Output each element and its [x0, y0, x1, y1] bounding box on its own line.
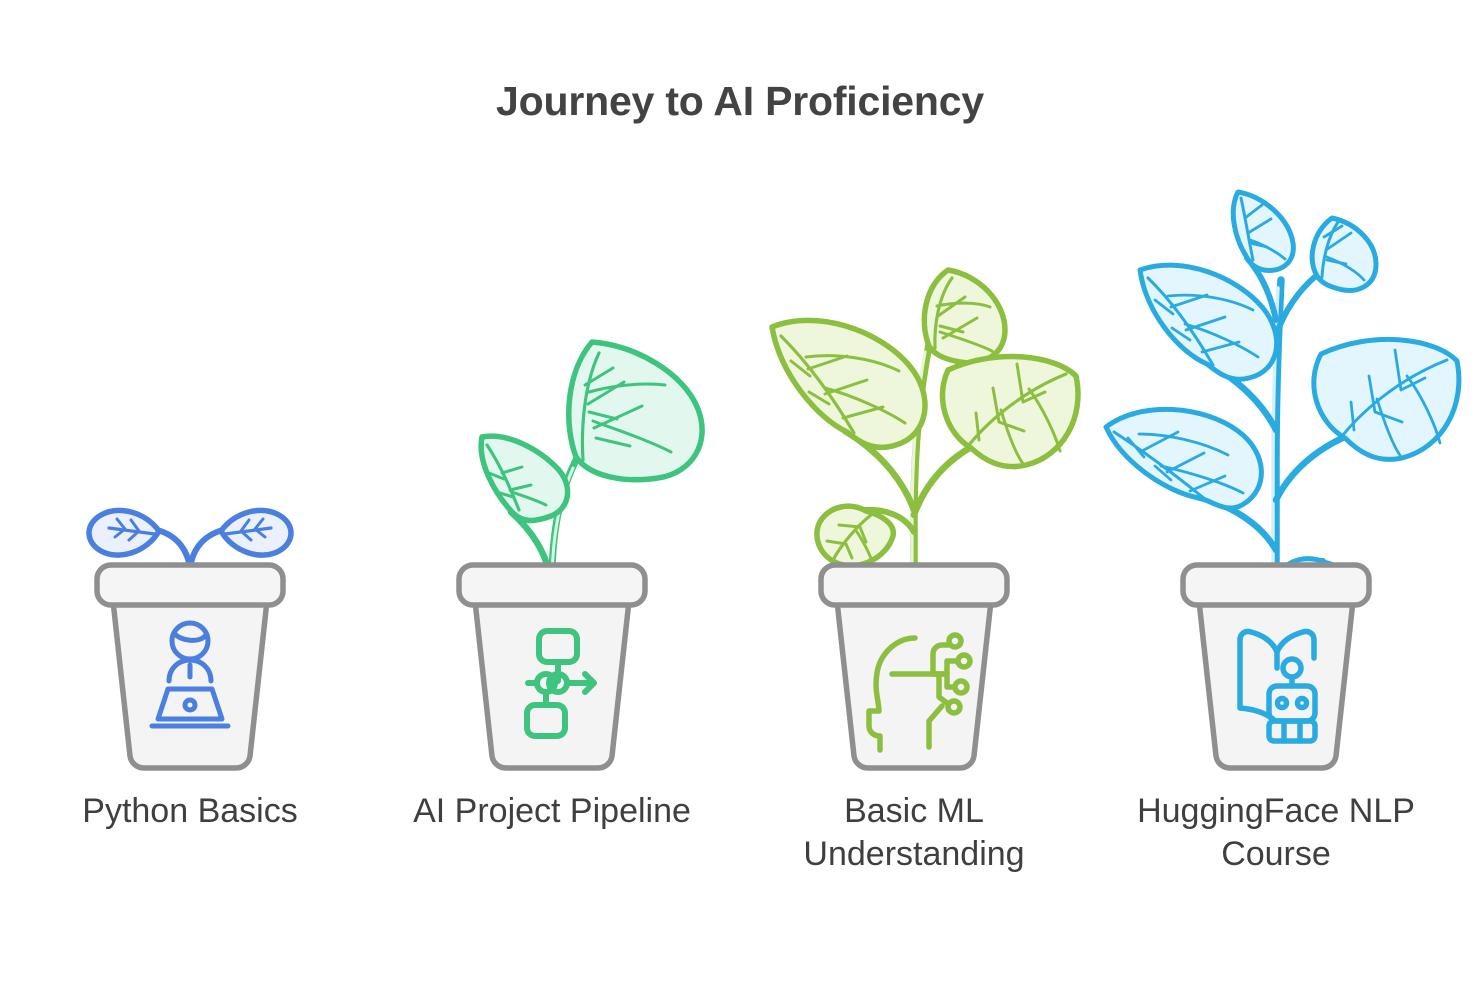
leaf-icon: [569, 342, 702, 480]
stage-label-4-line2: Course: [1095, 833, 1457, 876]
stage-item-4[interactable]: [1095, 160, 1457, 780]
plant-illustration-2: [371, 160, 733, 780]
stages-row: [0, 160, 1480, 780]
leaf-icon: [772, 320, 925, 447]
stage-label-3: Basic ML Understanding: [733, 790, 1095, 876]
stage-item-3[interactable]: [733, 160, 1095, 780]
page-title: Journey to AI Proficiency: [0, 78, 1480, 125]
leaf-icon: [817, 506, 893, 565]
stage-label-4-line1: HuggingFace NLP: [1137, 792, 1415, 830]
leaf-icon: [221, 510, 291, 555]
leaf-icon: [1140, 265, 1277, 379]
stage-label-1: Python Basics: [9, 790, 371, 833]
stage-label-1-line1: Python Basics: [82, 792, 297, 830]
leaf-icon: [1106, 409, 1261, 508]
stage-labels-row: Python Basics AI Project Pipeline Basic …: [0, 790, 1480, 910]
leaf-icon: [481, 436, 567, 520]
stage-label-3-line2: Understanding: [733, 833, 1095, 876]
leaf-icon: [1233, 192, 1293, 271]
plant-illustration-3: [733, 160, 1095, 780]
stage-label-4: HuggingFace NLP Course: [1095, 790, 1457, 876]
plant-illustration-4: [1095, 160, 1457, 780]
stage-label-2-line1: AI Project Pipeline: [413, 792, 691, 830]
stage-label-3-line1: Basic ML: [844, 792, 984, 830]
plant-illustration-1: [9, 160, 371, 780]
leaf-icon: [924, 270, 1005, 363]
stage-item-2[interactable]: [371, 160, 733, 780]
stage-label-2: AI Project Pipeline: [371, 790, 733, 833]
leaf-icon: [89, 510, 159, 555]
pot-3: [821, 565, 1007, 768]
leaf-icon: [1312, 218, 1376, 290]
infographic-canvas: Journey to AI Proficiency: [0, 0, 1480, 988]
stage-item-1[interactable]: [9, 160, 371, 780]
